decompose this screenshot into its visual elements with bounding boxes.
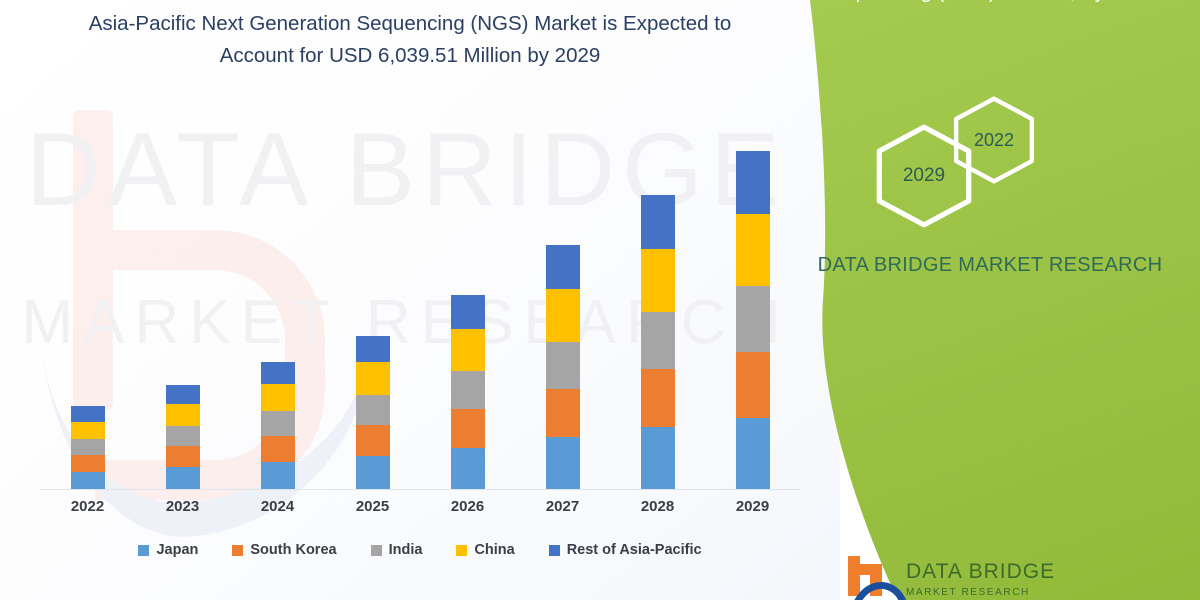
legend-swatch-icon — [232, 545, 243, 556]
x-tick-2027: 2027 — [533, 498, 593, 515]
bar-segment-china-2025 — [356, 362, 390, 395]
chart-panel: DATA BRIDGE MARKET RESEARCH Asia-Pacific… — [0, 0, 840, 600]
logo-subtitle: MARKET RESEARCH — [906, 587, 1055, 598]
bar-segment-china-2023 — [166, 404, 200, 426]
bar-segment-china-2022 — [71, 422, 105, 439]
bar-2027 — [546, 245, 580, 489]
bar-2025 — [356, 336, 390, 489]
legend-item-japan[interactable]: Japan — [138, 542, 198, 558]
x-tick-2022: 2022 — [58, 498, 118, 515]
x-axis-labels: 20222023202420252026202720282029 — [40, 494, 800, 518]
x-axis-line — [40, 489, 800, 490]
bar-group — [40, 110, 800, 489]
bar-segment-india-2028 — [641, 312, 675, 369]
legend-swatch-icon — [138, 545, 149, 556]
bar-segment-japan-2027 — [546, 437, 580, 489]
bar-segment-south-korea-2027 — [546, 389, 580, 437]
bar-segment-rest-of-asia-pacific-2029 — [736, 151, 770, 214]
bar-segment-rest-of-asia-pacific-2026 — [451, 295, 485, 329]
bar-2023 — [166, 385, 200, 489]
bar-segment-india-2025 — [356, 395, 390, 425]
chart-legend: JapanSouth KoreaIndiaChinaRest of Asia-P… — [60, 538, 780, 562]
hexagon-2029-label: 2029 — [903, 165, 945, 187]
bar-segment-south-korea-2023 — [166, 446, 200, 467]
bar-segment-china-2028 — [641, 249, 675, 312]
bar-segment-japan-2026 — [451, 448, 485, 489]
legend-item-south-korea[interactable]: South Korea — [232, 542, 336, 558]
bar-segment-south-korea-2029 — [736, 352, 770, 418]
bar-segment-rest-of-asia-pacific-2022 — [71, 406, 105, 422]
bar-segment-india-2026 — [451, 371, 485, 409]
bar-segment-japan-2022 — [71, 472, 105, 489]
bar-segment-india-2023 — [166, 426, 200, 446]
bar-segment-rest-of-asia-pacific-2025 — [356, 336, 390, 362]
x-tick-2029: 2029 — [723, 498, 783, 515]
bar-segment-india-2024 — [261, 411, 295, 436]
legend-item-rest-of-asia-pacific[interactable]: Rest of Asia-Pacific — [549, 542, 702, 558]
bridge-logo-icon — [846, 556, 898, 600]
bar-2028 — [641, 195, 675, 489]
bar-segment-south-korea-2028 — [641, 369, 675, 427]
bar-segment-south-korea-2026 — [451, 409, 485, 448]
bar-segment-rest-of-asia-pacific-2027 — [546, 245, 580, 289]
infographic-canvas: DATA BRIDGE MARKET RESEARCH Asia-Pacific… — [0, 0, 1200, 600]
bar-segment-south-korea-2024 — [261, 436, 295, 462]
bar-segment-japan-2023 — [166, 467, 200, 489]
green-banner — [780, 0, 1200, 600]
legend-label: India — [389, 542, 423, 558]
legend-swatch-icon — [456, 545, 467, 556]
x-tick-2028: 2028 — [628, 498, 688, 515]
bar-segment-south-korea-2022 — [71, 455, 105, 472]
bar-2029 — [736, 151, 770, 489]
legend-label: South Korea — [250, 542, 336, 558]
bar-segment-japan-2028 — [641, 427, 675, 489]
bar-segment-south-korea-2025 — [356, 425, 390, 456]
legend-label: China — [474, 542, 514, 558]
page-title: Asia-Pacific Next Generation Sequencing … — [60, 8, 760, 72]
bar-segment-japan-2024 — [261, 462, 295, 489]
legend-item-china[interactable]: China — [456, 542, 514, 558]
brand-name: DATA BRIDGE MARKET RESEARCH — [780, 250, 1200, 280]
bar-segment-china-2026 — [451, 329, 485, 371]
bar-segment-china-2029 — [736, 214, 770, 286]
hexagon-group: 2029 2022 — [780, 96, 1200, 226]
x-tick-2025: 2025 — [343, 498, 403, 515]
banner-title: Sequencing (NGS) Market , By 2029 — [780, 0, 1200, 8]
bar-2026 — [451, 295, 485, 489]
bar-segment-india-2027 — [546, 342, 580, 389]
bar-segment-japan-2025 — [356, 456, 390, 489]
bar-segment-rest-of-asia-pacific-2024 — [261, 362, 295, 384]
legend-swatch-icon — [371, 545, 382, 556]
x-tick-2024: 2024 — [248, 498, 308, 515]
logo-title: DATA BRIDGE — [906, 560, 1055, 583]
legend-swatch-icon — [549, 545, 560, 556]
bar-segment-japan-2029 — [736, 418, 770, 489]
bar-segment-china-2027 — [546, 289, 580, 342]
x-tick-2023: 2023 — [153, 498, 213, 515]
legend-item-india[interactable]: India — [371, 542, 423, 558]
bar-2024 — [261, 362, 295, 489]
bar-segment-rest-of-asia-pacific-2028 — [641, 195, 675, 249]
legend-label: Rest of Asia-Pacific — [567, 542, 702, 558]
hexagon-2022-label: 2022 — [974, 130, 1014, 151]
legend-label: Japan — [156, 542, 198, 558]
chart-plot-area — [40, 110, 800, 490]
databridge-logo: DATA BRIDGE MARKET RESEARCH — [846, 556, 1066, 600]
bar-segment-china-2024 — [261, 384, 295, 411]
x-tick-2026: 2026 — [438, 498, 498, 515]
hexagon-2022: 2022 — [950, 96, 1038, 184]
bar-segment-rest-of-asia-pacific-2023 — [166, 385, 200, 404]
bar-segment-india-2022 — [71, 439, 105, 455]
logo-text: DATA BRIDGE MARKET RESEARCH — [906, 560, 1055, 598]
bar-segment-india-2029 — [736, 286, 770, 352]
bar-2022 — [71, 406, 105, 489]
